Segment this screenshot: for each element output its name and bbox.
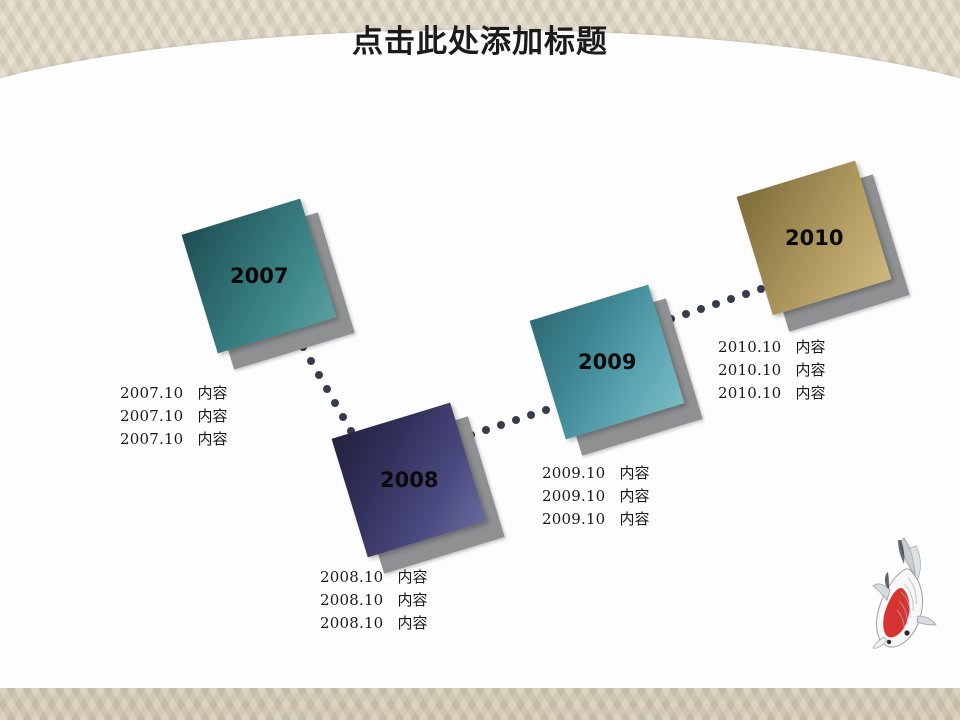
connector-dot [482,426,490,434]
connector-dot [512,416,520,424]
caption-line: 2010.10内容 [718,359,825,382]
milestone-year-label: 2009 [578,350,636,374]
caption-text: 内容 [197,407,227,425]
caption-2007[interactable]: 2007.10内容 2007.10内容 2007.10内容 [120,382,227,451]
connector-dot [497,421,505,429]
caption-line: 2007.10内容 [120,428,227,451]
page-title[interactable]: 点击此处添加标题 [0,16,960,61]
caption-line: 2008.10内容 [320,566,427,589]
caption-date: 2007.10 [120,430,183,448]
caption-line: 2008.10内容 [320,612,427,635]
connector-dot [712,300,720,308]
connector-dot [682,310,690,318]
caption-date: 2010.10 [718,384,781,402]
caption-date: 2009.10 [542,464,605,482]
connector-dot [697,305,705,313]
connector-dot [339,413,347,421]
connector-dot [331,399,339,407]
caption-2009[interactable]: 2009.10内容 2009.10内容 2009.10内容 [542,462,649,531]
caption-date: 2008.10 [320,614,383,632]
caption-text: 内容 [619,464,649,482]
milestone-year-label: 2007 [230,264,288,288]
connector-dot [527,411,535,419]
caption-text: 内容 [397,591,427,609]
caption-line: 2009.10内容 [542,485,649,508]
caption-date: 2009.10 [542,487,605,505]
caption-text: 内容 [619,487,649,505]
milestone-year-label: 2008 [380,468,438,492]
caption-text: 内容 [397,614,427,632]
connector-dot [742,290,750,298]
caption-date: 2009.10 [542,510,605,528]
caption-line: 2008.10内容 [320,589,427,612]
connector-dot [315,371,323,379]
caption-text: 内容 [397,568,427,586]
caption-text: 内容 [795,338,825,356]
caption-2010[interactable]: 2010.10内容 2010.10内容 2010.10内容 [718,336,825,405]
caption-date: 2007.10 [120,384,183,402]
caption-text: 内容 [795,361,825,379]
caption-line: 2009.10内容 [542,462,649,485]
caption-2008[interactable]: 2008.10内容 2008.10内容 2008.10内容 [320,566,427,635]
caption-line: 2007.10内容 [120,405,227,428]
milestone-year-label: 2010 [785,226,843,250]
caption-text: 内容 [197,430,227,448]
slide-canvas: 点击此处添加标题 [0,0,960,720]
background-bottom-strip-pattern [0,688,960,720]
caption-date: 2010.10 [718,361,781,379]
caption-date: 2007.10 [120,407,183,425]
caption-date: 2008.10 [320,591,383,609]
caption-date: 2010.10 [718,338,781,356]
caption-text: 内容 [197,384,227,402]
caption-line: 2007.10内容 [120,382,227,405]
connector-dot [727,295,735,303]
caption-text: 内容 [619,510,649,528]
caption-line: 2010.10内容 [718,382,825,405]
connector-dot [323,385,331,393]
koi-fish-icon [860,532,944,654]
connector-dot [307,357,315,365]
background-bottom-strip [0,688,960,720]
caption-date: 2008.10 [320,568,383,586]
connector-dot [542,406,550,414]
caption-line: 2010.10内容 [718,336,825,359]
caption-line: 2009.10内容 [542,508,649,531]
caption-text: 内容 [795,384,825,402]
